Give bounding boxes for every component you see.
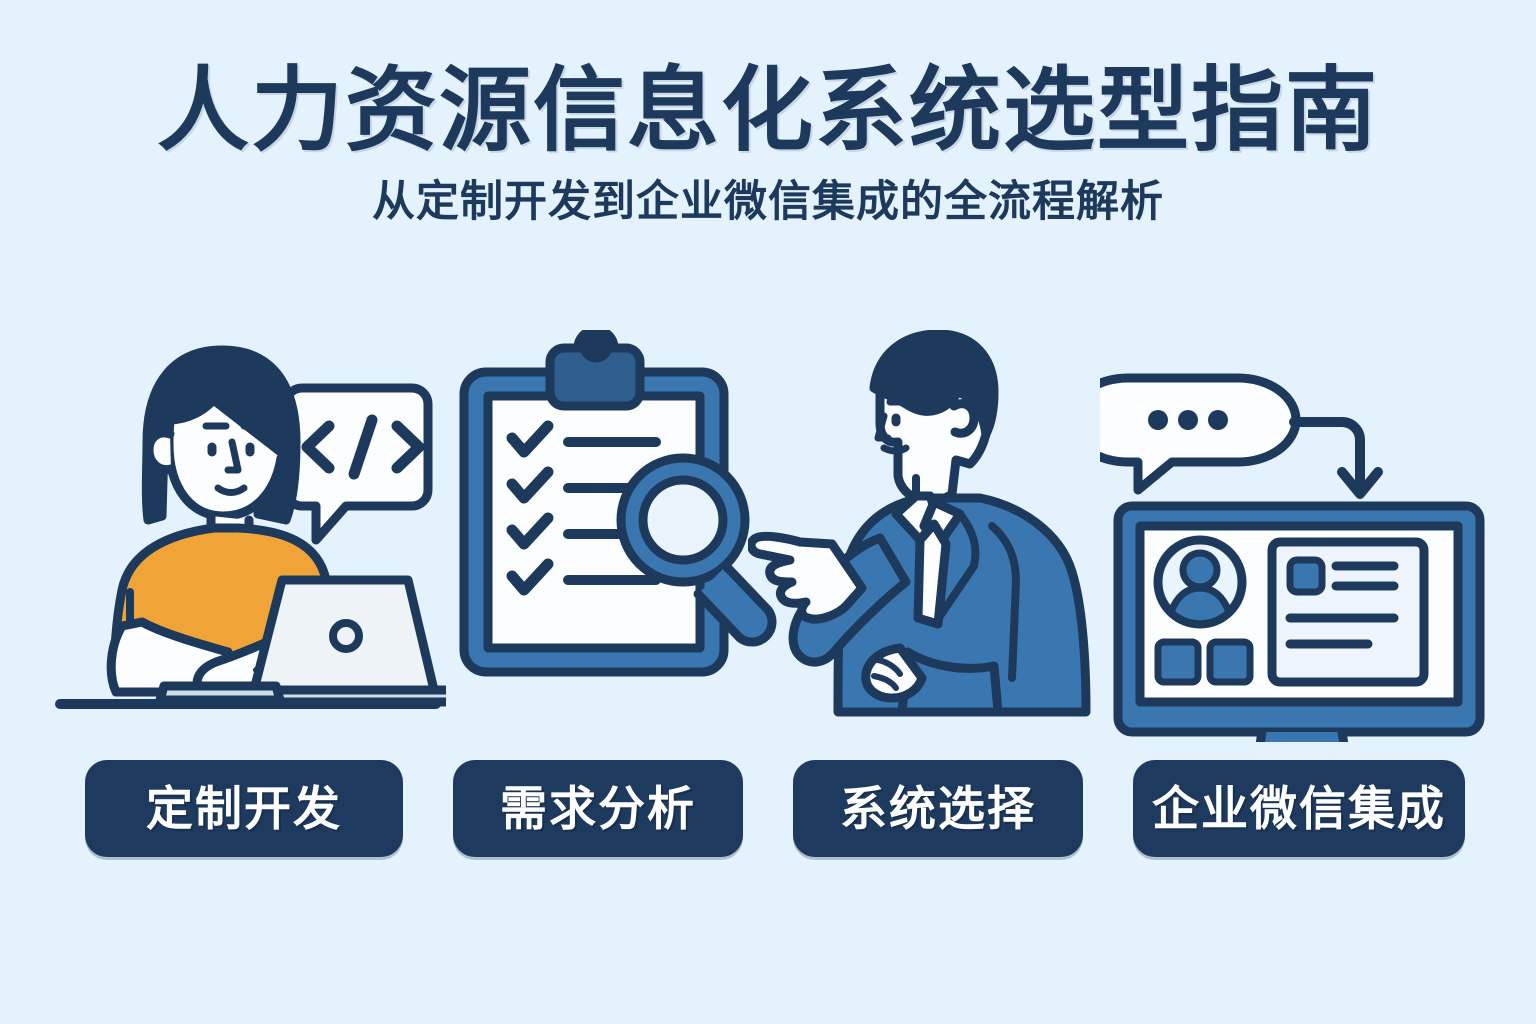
page-title: 人力资源信息化系统选型指南 (0, 62, 1536, 161)
tile-icon (1210, 642, 1250, 682)
tile-icon (1158, 642, 1198, 682)
step-badge-requirement-analysis[interactable]: 需求分析 (453, 760, 743, 857)
step-badge-wecom-integration[interactable]: 企业微信集成 (1133, 760, 1465, 857)
illustration-system-selection (748, 330, 1118, 742)
header: 人力资源信息化系统选型指南 从定制开发到企业微信集成的全流程解析 (0, 62, 1536, 229)
arrow-down-icon (1294, 422, 1378, 494)
page-subtitle: 从定制开发到企业微信集成的全流程解析 (0, 177, 1536, 229)
illustration-row (0, 330, 1536, 742)
infographic-poster: 人力资源信息化系统选型指南 从定制开发到企业微信集成的全流程解析 (0, 0, 1536, 1024)
illustration-wecom-integration (1100, 330, 1500, 742)
step-badge-custom-development[interactable]: 定制开发 (85, 760, 403, 857)
step-badge-label: 定制开发 (146, 785, 342, 832)
step-badge-label: 系统选择 (840, 785, 1036, 832)
code-bubble-icon (286, 388, 428, 540)
step-badge-label: 企业微信集成 (1152, 785, 1446, 832)
chat-bubble-icon (1100, 378, 1296, 490)
pointing-hand-icon (751, 536, 862, 619)
step-badge-label: 需求分析 (500, 785, 696, 832)
illustration-custom-development (46, 330, 446, 742)
laptop-icon (254, 580, 446, 702)
step-badge-row: 定制开发 需求分析 系统选择 企业微信集成 (0, 760, 1536, 860)
step-badge-system-selection[interactable]: 系统选择 (793, 760, 1083, 857)
profile-card-icon (1272, 542, 1424, 682)
user-avatar-icon (1158, 540, 1242, 624)
